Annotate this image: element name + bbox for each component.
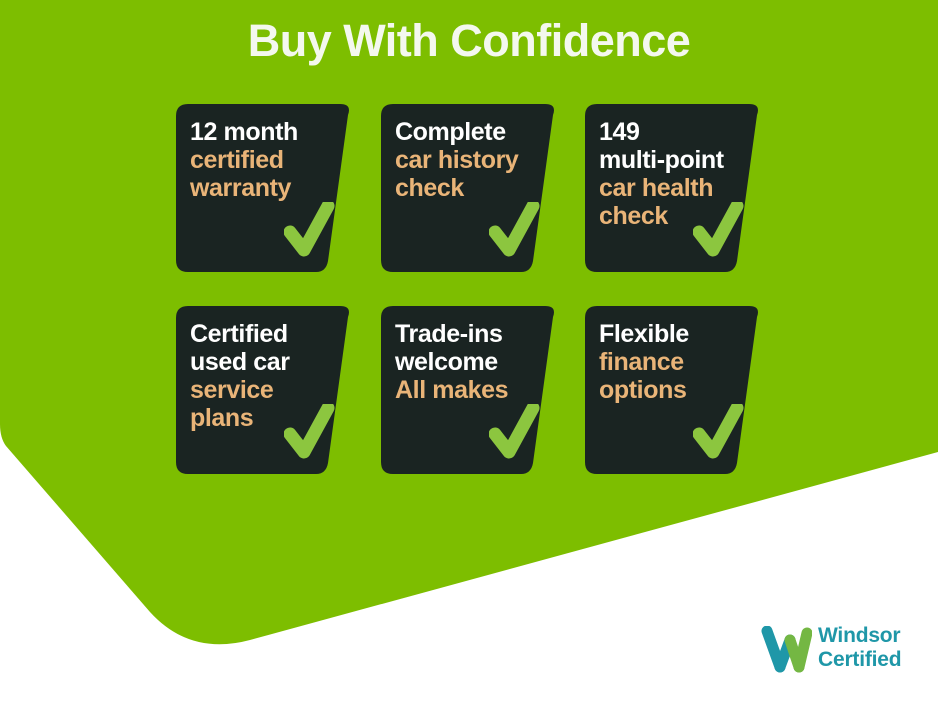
card-line-white: Certified: [190, 320, 322, 348]
check-mark-icon: [693, 202, 745, 264]
feature-card[interactable]: Certified used car service plans: [176, 306, 352, 474]
check-mark-icon: [489, 202, 541, 264]
card-text: Flexible finance options: [599, 320, 731, 404]
check-mark-icon: [284, 202, 336, 264]
logo-line-certified: Certified: [818, 648, 901, 672]
check-mark-icon: [489, 404, 541, 466]
card-line-tan: All makes: [395, 376, 527, 404]
card-line-tan: warranty: [190, 174, 322, 202]
logo-line-windsor: Windsor: [818, 624, 901, 648]
check-mark-icon: [284, 404, 336, 466]
feature-card-grid: 12 month certified warranty Complete car…: [0, 0, 938, 704]
card-line-tan: finance: [599, 348, 731, 376]
card-text: Complete car history check: [395, 118, 527, 202]
card-text: 12 month certified warranty: [190, 118, 322, 202]
card-line-white: 12 month: [190, 118, 322, 146]
poster-canvas: Buy With Confidence 12 month certified w…: [0, 0, 938, 704]
feature-card[interactable]: 149 multi-point car health check: [585, 104, 761, 272]
card-line-tan: service: [190, 376, 322, 404]
card-line-white: welcome: [395, 348, 527, 376]
feature-card[interactable]: Complete car history check: [381, 104, 557, 272]
card-line-tan: certified: [190, 146, 322, 174]
card-text: Trade-ins welcome All makes: [395, 320, 527, 404]
card-line-tan: car history: [395, 146, 527, 174]
card-line-tan: options: [599, 376, 731, 404]
windsor-certified-logo[interactable]: Windsor Certified: [760, 624, 932, 682]
feature-card[interactable]: Trade-ins welcome All makes: [381, 306, 557, 474]
feature-card[interactable]: 12 month certified warranty: [176, 104, 352, 272]
card-line-white: 149: [599, 118, 731, 146]
feature-card[interactable]: Flexible finance options: [585, 306, 761, 474]
card-line-tan: check: [395, 174, 527, 202]
windsor-w-mark-icon: [760, 626, 812, 674]
card-line-white: used car: [190, 348, 322, 376]
card-line-white: Flexible: [599, 320, 731, 348]
check-mark-icon: [693, 404, 745, 466]
card-line-white: Trade-ins: [395, 320, 527, 348]
card-line-white: multi-point: [599, 146, 731, 174]
card-line-tan: car health: [599, 174, 731, 202]
card-line-white: Complete: [395, 118, 527, 146]
logo-wordmark: Windsor Certified: [818, 624, 901, 671]
